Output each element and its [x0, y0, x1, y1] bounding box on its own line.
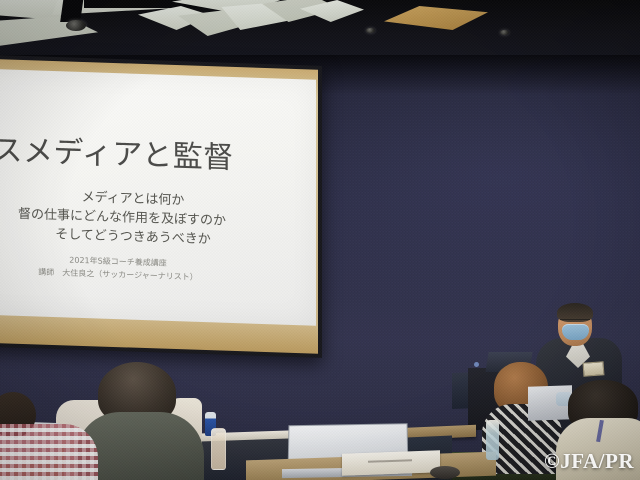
ceiling-spotlight: [66, 20, 86, 31]
slide-footer: 2021年S級コーチ養成講座 講師 大住良之（サッカージャーナリスト）: [0, 250, 268, 286]
projection-screen: マスメディアと監督 メディアとは何か 督の仕事にどんな作用を及ぼすのか そしてど…: [0, 68, 316, 326]
water-bottle: [211, 428, 226, 470]
computer-mouse: [430, 466, 460, 479]
ceiling-wood-panel: [384, 6, 488, 30]
slide-title: マスメディアと監督: [0, 124, 302, 179]
ceiling-spotlight: [500, 30, 509, 35]
table-name-card: [342, 450, 440, 475]
ceiling-panel: [0, 16, 98, 46]
slide-body: メディアとは何か 督の仕事にどんな作用を及ぼすのか そしてどうつきあうべきか: [0, 184, 298, 252]
attendee-body: [0, 424, 98, 480]
microphone-icon: [474, 362, 479, 367]
water-bottle: [486, 420, 499, 460]
ceiling-beam: [60, 0, 84, 22]
ceiling-spotlight: [366, 28, 375, 33]
slide-content: マスメディアと監督 メディアとは何か 督の仕事にどんな作用を及ぼすのか そしてど…: [0, 68, 316, 326]
ceiling: [0, 0, 640, 62]
watermark: ©JFA/PR: [544, 449, 634, 474]
presenter-name-badge: [583, 361, 605, 376]
photo-scene: マスメディアと監督 メディアとは何か 督の仕事にどんな作用を及ぼすのか そしてど…: [0, 0, 640, 480]
face-mask-icon: [562, 324, 589, 340]
